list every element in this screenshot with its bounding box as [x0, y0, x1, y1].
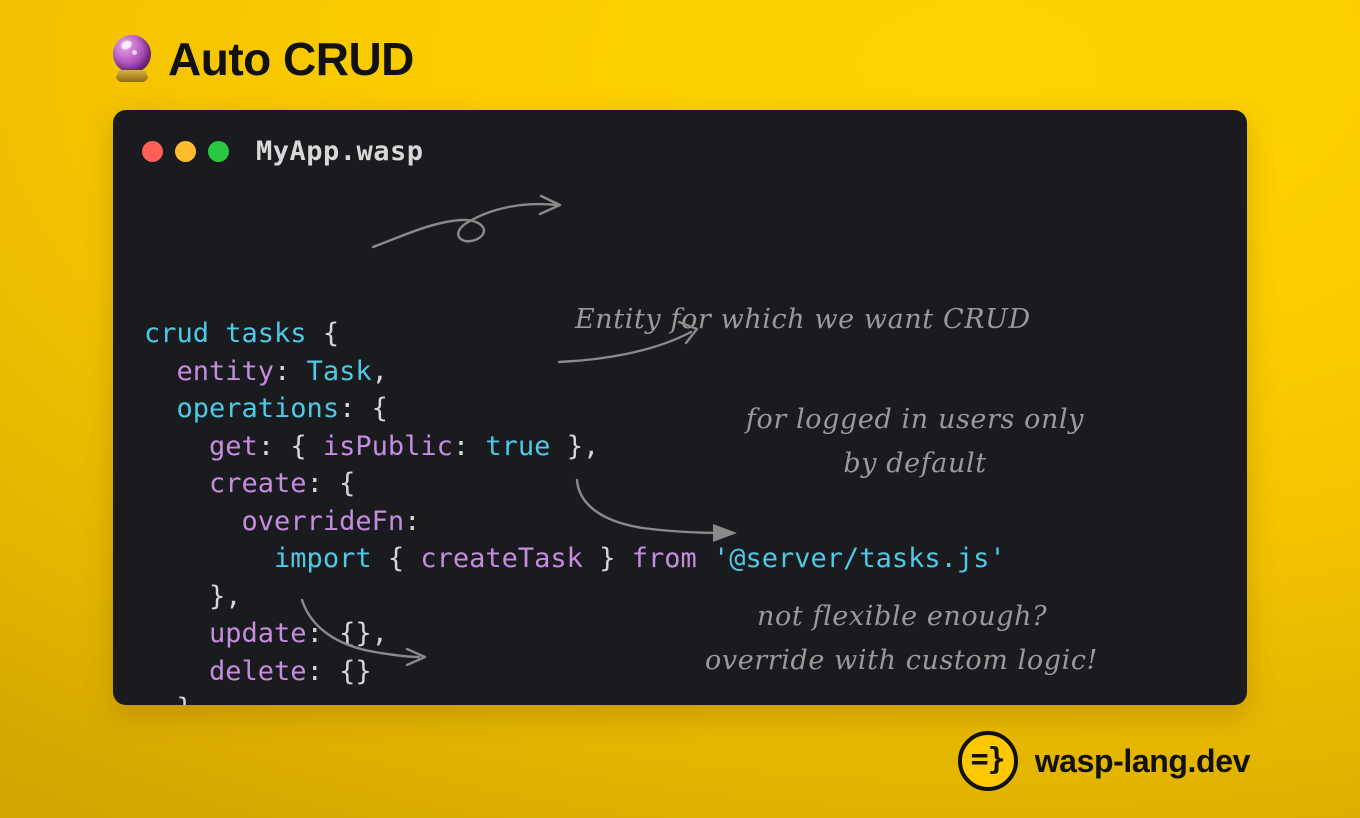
window-titlebar: MyApp.wasp [113, 110, 1247, 192]
page-title-row: Auto CRUD [110, 26, 414, 92]
code-token-punc: , [372, 356, 388, 387]
code-token-punc [144, 356, 177, 387]
code-token-prop: update [209, 618, 307, 649]
annotation-auth-line2: by default [720, 442, 1110, 486]
code-token-prop: createTask [420, 543, 583, 574]
code-token-kw: import [274, 543, 372, 574]
code-token-prop: get [209, 431, 258, 462]
code-token-prop: create [209, 468, 307, 499]
page-title: Auto CRUD [168, 36, 414, 82]
maximize-button[interactable] [208, 141, 229, 162]
code-token-punc [144, 431, 209, 462]
annotation-entity: Entity for which we want CRUD [575, 298, 1031, 342]
code-token-kw: operations [177, 393, 340, 424]
annotation-override-line2: override with custom logic! [705, 639, 1098, 683]
code-token-bool: true [485, 431, 550, 462]
code-token-prop: from [632, 543, 697, 574]
code-token-punc: { [372, 543, 421, 574]
code-token-punc: : { [307, 468, 356, 499]
minimize-button[interactable] [175, 141, 196, 162]
code-token-prop: delete [209, 656, 307, 687]
code-line: entity: Task, [144, 353, 1006, 391]
code-window: MyApp.wasp crud tasks { entity: Task, op… [113, 110, 1247, 705]
code-token-punc [144, 543, 274, 574]
code-line: import { createTask } from '@server/task… [144, 540, 1006, 578]
annotation-override-line1: not flexible enough? [757, 595, 1047, 639]
code-token-punc [144, 393, 177, 424]
arrow-entity-path [373, 204, 557, 247]
annotation-auth-line1: for logged in users only [720, 398, 1110, 442]
code-token-prop: overrideFn [242, 506, 405, 537]
code-token-punc: : {} [307, 656, 372, 687]
code-line: overrideFn: [144, 503, 1006, 541]
arrow-entity-head [540, 196, 560, 214]
footer-brand[interactable]: =} wasp-lang.dev [958, 731, 1250, 791]
code-token-punc: : { [258, 431, 323, 462]
wasp-logo-icon: =} [958, 731, 1018, 791]
code-line: } [144, 690, 1006, 705]
code-token-punc [144, 468, 209, 499]
close-button[interactable] [142, 141, 163, 162]
code-token-prop: entity [177, 356, 275, 387]
code-token-str: '@server/tasks.js' [713, 543, 1006, 574]
code-token-kw: crud tasks [144, 318, 323, 349]
code-token-punc [697, 543, 713, 574]
footer-site-label: wasp-lang.dev [1035, 743, 1250, 780]
crystal-ball-icon [110, 35, 154, 83]
code-token-prop: isPublic [323, 431, 453, 462]
code-token-punc: { [323, 318, 339, 349]
code-token-punc: : [453, 431, 486, 462]
window-filename: MyApp.wasp [256, 136, 424, 167]
code-token-punc [144, 618, 209, 649]
code-token-punc: }, [550, 431, 599, 462]
code-token-punc: }, [144, 581, 242, 612]
code-token-punc [144, 656, 209, 687]
code-token-punc: : { [339, 393, 388, 424]
code-token-type: Task [307, 356, 372, 387]
code-token-punc: : [274, 356, 307, 387]
code-token-punc [144, 506, 242, 537]
wasp-logo-glyph: =} [971, 745, 1005, 775]
code-token-punc: } [144, 693, 193, 705]
code-token-punc: } [583, 543, 632, 574]
code-token-punc: : {}, [307, 618, 388, 649]
code-token-punc: : [404, 506, 420, 537]
